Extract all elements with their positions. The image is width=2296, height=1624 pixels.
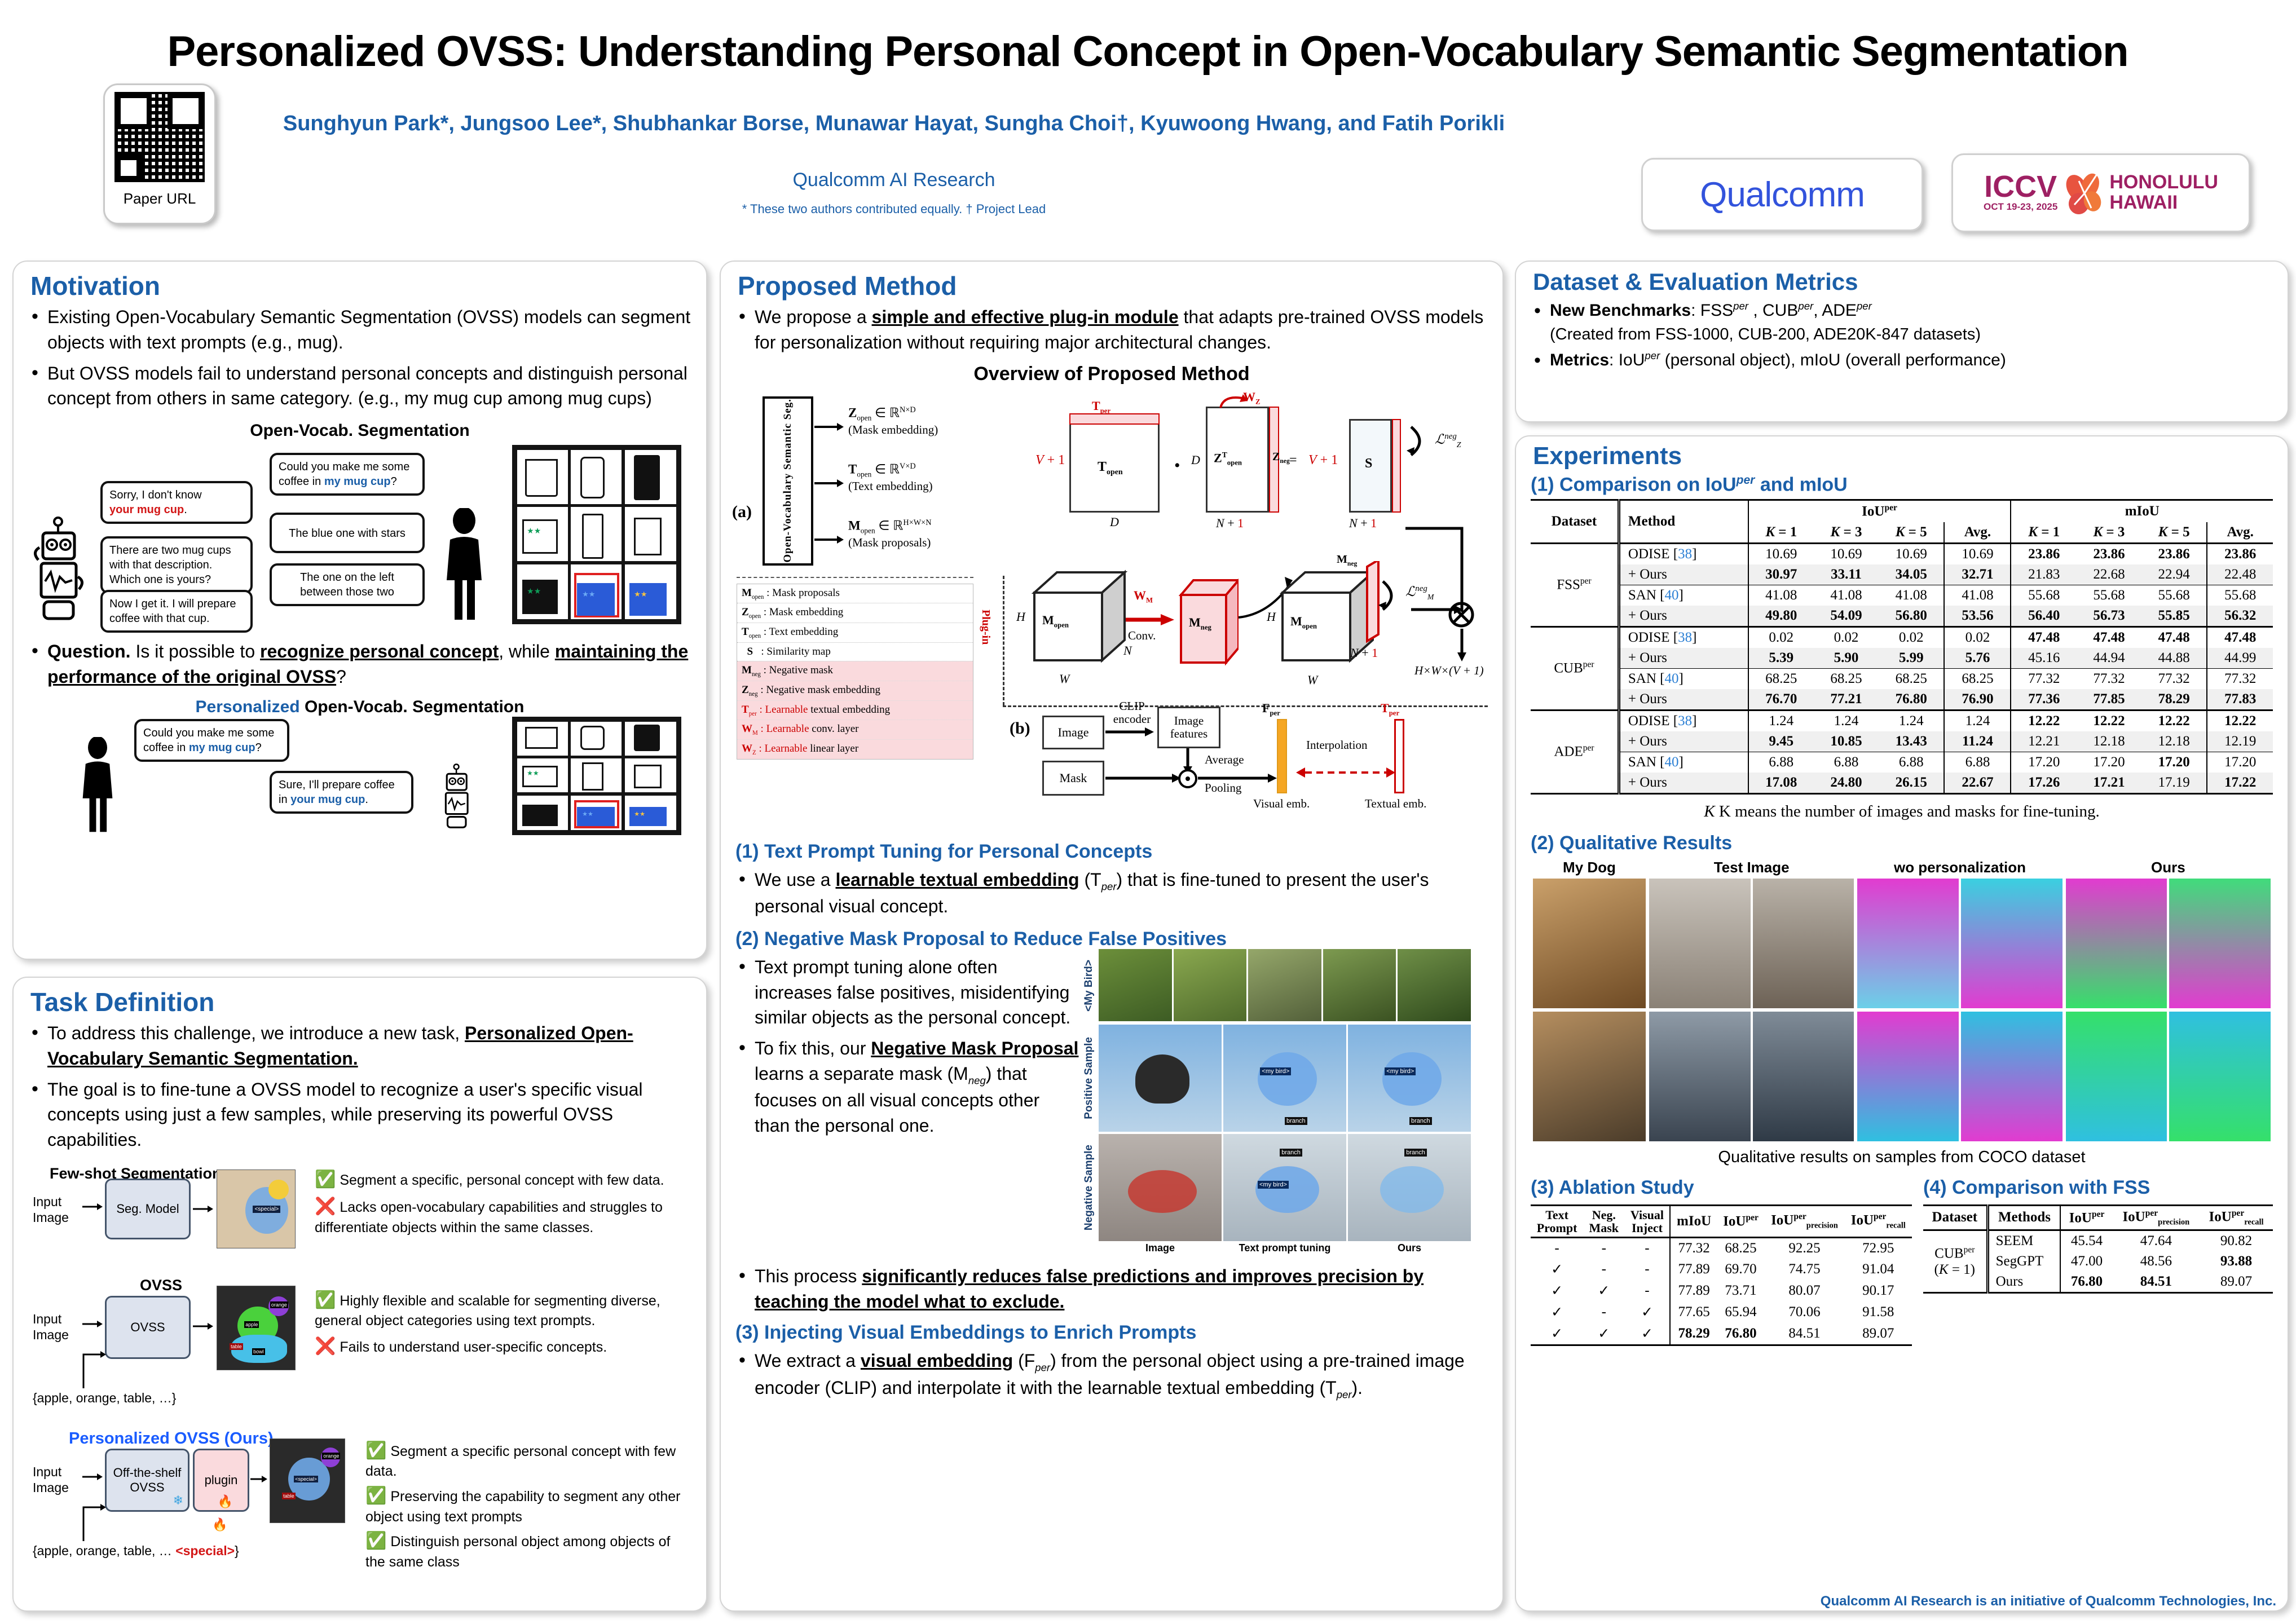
value-cell: 24.80	[1814, 773, 1879, 794]
speech-bubble-robot-2: There are two mug cups with that descrip…	[100, 536, 253, 594]
bubble-text: ?	[255, 742, 262, 754]
mask-tag: <my bird>	[1260, 1067, 1291, 1075]
dataset-cell: FSSper	[1531, 543, 1619, 626]
value-cell: 77.83	[2207, 689, 2273, 710]
value-cell: 77.32	[2141, 668, 2207, 689]
task-text: To address this challenge, we introduce …	[47, 1023, 465, 1043]
vocab-arrow-icon	[81, 1347, 107, 1391]
arrow-icon	[1105, 773, 1181, 783]
method-cell: ODISE [38]	[1619, 543, 1748, 564]
label-loss-z: ℒnegZ	[1435, 431, 1461, 450]
motivation-question: Question. Is it possible to recognize pe…	[28, 639, 691, 690]
open-vocab-diagram-caption: Open-Vocab. Segmentation	[14, 421, 706, 440]
dataset-metrics-panel: Dataset & Evaluation Metrics New Benchma…	[1515, 261, 2289, 422]
label-m-neg-2: Mneg	[1337, 553, 1357, 567]
question-label: Question.	[47, 641, 131, 661]
value-cell: 77.85	[2077, 689, 2141, 710]
flag-cell: -	[1583, 1237, 1624, 1259]
ours-result-image: orange <special> table	[270, 1438, 345, 1523]
dataset-label: Metrics	[1550, 351, 1609, 369]
method-sec2-bullet-3: This process significantly reduces false…	[735, 1264, 1486, 1314]
k-note-text: K means the number of images and masks f…	[1719, 802, 2100, 820]
bubble-highlight: my mug cup	[324, 475, 391, 488]
ablation-table: TextPrompt Neg.Mask VisualInject mIoU Io…	[1531, 1204, 1912, 1346]
label-w2: W	[1307, 673, 1317, 687]
flame-icon: 🔥	[218, 1494, 233, 1509]
table-row: + Ours76.7077.2176.8076.9077.3677.8578.2…	[1531, 689, 2273, 710]
negative-sample-row: <my bird> branch branch	[1099, 1134, 1471, 1241]
author-footnote: * These two authors contributed equally.…	[265, 202, 1523, 217]
table-row: SAN [40]41.0841.0841.0841.0855.6855.6855…	[1531, 585, 2273, 606]
my-bird-row	[1099, 949, 1471, 1021]
arrow-icon	[193, 1322, 213, 1331]
flag-cell: -	[1531, 1237, 1583, 1259]
value-cell: 23.86	[2011, 543, 2076, 564]
qualitative-column-headers: My Dog Test Image wo personalization Our…	[1533, 859, 2271, 876]
value-cell: 45.16	[2011, 648, 2076, 669]
ours-vocab-label: {apple, orange, table, … <special>}	[33, 1543, 239, 1559]
qual-col-header: Test Image	[1649, 859, 1854, 876]
personalized-diagram: Could you make me some coffee in my mug …	[21, 717, 687, 835]
value-cell: 10.69	[1944, 543, 2011, 564]
question-text: Is it possible to	[131, 641, 260, 661]
qualcomm-logo: Qualcomm	[1641, 158, 1923, 231]
sec-text: learns a separate mask (M	[755, 1063, 968, 1084]
value-cell: 55.68	[2011, 585, 2076, 606]
qr-code-icon	[114, 92, 205, 182]
value-cell: 70.06	[1764, 1301, 1844, 1323]
value-cell: 74.75	[1764, 1259, 1844, 1280]
value-cell: 33.11	[1814, 564, 1879, 585]
value-cell: 10.69	[1748, 543, 1814, 564]
experiments-panel: Experiments (1) Comparison on IoUper and…	[1515, 435, 2289, 1612]
bird-column-labels: Image Text prompt tuning Ours	[1099, 1242, 1471, 1254]
value-cell: 22.48	[2207, 564, 2273, 585]
point-text: Segment a specific, personal concept wit…	[340, 1172, 664, 1188]
label-t-per: Tper	[1092, 399, 1110, 415]
bird-col-label: Text prompt tuning	[1223, 1242, 1346, 1254]
label-s: S	[1365, 456, 1372, 471]
task-definition-title: Task Definition	[30, 987, 706, 1017]
value-cell: 56.73	[2077, 606, 2141, 627]
dataset-label: New Benchmarks	[1550, 301, 1691, 320]
mask-tag: branch	[1409, 1117, 1432, 1125]
flag-cell: ✓	[1531, 1259, 1583, 1280]
dataset-bullet-1: New Benchmarks: FSSper , CUBper, ADEper …	[1531, 299, 2274, 346]
value-cell: 69.70	[1717, 1259, 1765, 1280]
ovss-module-box: Open-Vocabulary Semantic Seg.	[763, 396, 813, 566]
vocab-special-token: <special>	[175, 1543, 235, 1558]
flag-cell: ✓	[1583, 1280, 1624, 1301]
check-icon: ✅	[365, 1486, 386, 1505]
sec-subscript: per	[1337, 1388, 1352, 1400]
flag-cell: ✓	[1624, 1323, 1670, 1345]
flag-cell: ✓	[1531, 1323, 1583, 1345]
check-icon: ✅	[315, 1170, 336, 1189]
value-cell: 17.20	[2011, 752, 2076, 773]
motivation-panel: Motivation Existing Open-Vocabulary Sema…	[12, 261, 707, 960]
method-sec2-bullet-2: To fix this, our Negative Mask Proposal …	[735, 1036, 1079, 1138]
value-cell: 17.26	[2011, 773, 2076, 794]
task-bullet-2: The goal is to fine-tune a OVSS model to…	[28, 1077, 691, 1153]
bubble-text: .	[184, 504, 187, 516]
box-label: plugin	[205, 1473, 238, 1488]
label-t-open: Topen	[1098, 460, 1123, 477]
value-cell: 76.90	[1944, 689, 2011, 710]
input-image-label: InputImage	[33, 1464, 69, 1495]
visual-emb-label: Visual emb.	[1253, 797, 1310, 811]
value-cell: 76.80	[1879, 689, 1944, 710]
sec-text: We use a	[755, 870, 835, 890]
point-text: Fails to understand user-specific concep…	[340, 1339, 607, 1355]
value-cell: 21.83	[2011, 564, 2076, 585]
value-cell: 12.18	[2141, 731, 2207, 752]
bubble-text: .	[365, 793, 368, 806]
table-row: ADEperODISE [38]1.241.241.241.2412.2212.…	[1531, 710, 2273, 731]
value-cell: 17.22	[2207, 773, 2273, 794]
value-cell: 5.90	[1814, 648, 1879, 669]
table-row: + Ours5.395.905.995.7645.1644.9444.8844.…	[1531, 648, 2273, 669]
value-cell: 91.04	[1845, 1259, 1912, 1280]
value-cell: 68.25	[1748, 668, 1814, 689]
value-cell: 68.25	[1879, 668, 1944, 689]
table-row: + Ours30.9733.1134.0532.7121.8322.6822.9…	[1531, 564, 2273, 585]
label-h2: H	[1267, 610, 1276, 624]
iccv-city: HONOLULU	[2109, 173, 2218, 193]
value-cell: 10.69	[1814, 543, 1879, 564]
overview-diagram: (a) Open-Vocabulary Semantic Seg. Zopen …	[731, 390, 1492, 739]
sec-emphasis: Negative Mask Proposal	[871, 1038, 1078, 1058]
speech-bubble-user-3: The one on the left between those two	[270, 563, 425, 606]
value-cell: 41.08	[1748, 585, 1814, 606]
dataset-cell: CUBper(K = 1)	[1923, 1230, 1987, 1292]
flag-cell: ✓	[1531, 1301, 1583, 1323]
value-cell: 56.40	[2011, 606, 2076, 627]
table-row: + Ours17.0824.8026.1522.6717.2617.2117.1…	[1531, 773, 2273, 794]
similarity-neg-col	[1392, 419, 1401, 513]
speech-bubble-personalized-robot: Sure, I'll prepare coffee in your mug cu…	[270, 771, 413, 814]
value-cell: 22.68	[2077, 564, 2141, 585]
paper-url-qr[interactable]: Paper URL	[103, 83, 216, 224]
method-cell: + Ours	[1619, 689, 1748, 710]
textual-emb-label: Textual emb.	[1365, 797, 1426, 811]
shelf-diagram: ★★ ★★ ★★ ★★	[512, 445, 681, 624]
value-cell: 77.89	[1670, 1259, 1717, 1280]
value-cell: 12.22	[2077, 710, 2141, 731]
flag-cell: -	[1624, 1280, 1670, 1301]
value-cell: 47.48	[2077, 626, 2141, 648]
qualitative-results: My Dog Test Image wo personalization Our…	[1533, 859, 2271, 1167]
table-row: ✓--77.8969.7074.7591.04	[1531, 1259, 1912, 1280]
dataset-sublabel: (Created from FSS-1000, CUB-200, ADE20K-…	[1550, 325, 1981, 343]
multiply-icon	[1446, 599, 1477, 630]
bubble-highlight: your mug cup	[109, 504, 184, 516]
value-cell: 56.80	[1879, 606, 1944, 627]
method-intro-bullet: We propose a simple and effective plug-i…	[735, 304, 1486, 355]
sec-text: We extract a	[755, 1351, 861, 1371]
mask-box: Mask	[1042, 761, 1104, 796]
open-vocab-diagram: Sorry, I don't know your mug cup. There …	[21, 440, 687, 626]
sec-emphasis: learnable textual embedding	[835, 870, 1079, 890]
label-h: H	[1016, 610, 1025, 624]
value-cell: 77.21	[1814, 689, 1879, 710]
sec-text: (T	[1079, 870, 1101, 890]
iccv-logo-text: ICCV	[1984, 173, 2057, 201]
method-sec3-title: (3) Injecting Visual Embeddings to Enric…	[735, 1322, 1502, 1344]
value-cell: 93.88	[2200, 1251, 2273, 1272]
ovss-vocab-label: {apple, orange, table, …}	[33, 1391, 176, 1406]
label-hwv: H×W×(V + 1)	[1414, 664, 1484, 678]
dataset-cell: CUBper	[1531, 626, 1619, 710]
cross-icon: ❌	[315, 1197, 336, 1216]
value-cell: 76.80	[2060, 1272, 2112, 1293]
method-cell: SEEM	[1987, 1230, 2060, 1251]
experiments-sec1-title: (1) Comparison on IoUper and mIoU	[1531, 474, 2288, 496]
value-cell: 9.45	[1748, 731, 1814, 752]
ours-points: ✅ Segment a specific personal concept wi…	[365, 1440, 681, 1572]
label-conv: Conv.	[1128, 629, 1156, 643]
value-cell: 47.64	[2113, 1230, 2200, 1251]
iccv-state: HAWAII	[2109, 193, 2218, 213]
method-cell: ODISE [38]	[1619, 710, 1748, 731]
flag-cell: -	[1624, 1237, 1670, 1259]
speech-bubble-user-1: Could you make me some coffee in my mug …	[270, 453, 425, 496]
method-cell: SegGPT	[1987, 1251, 2060, 1272]
my-bird-row-label: <My Bird>	[1082, 949, 1096, 1022]
value-cell: 56.32	[2207, 606, 2273, 627]
qualcomm-logo-text: Qualcomm	[1700, 175, 1865, 215]
experiments-sec2-title: (2) Qualitative Results	[1531, 832, 2288, 854]
robot-icon	[26, 514, 94, 626]
value-cell: 17.20	[2207, 752, 2273, 773]
personalized-diagram-caption: Personalized Open-Vocab. Segmentation	[14, 698, 706, 717]
flag-cell: ✓	[1583, 1323, 1624, 1345]
qr-label: Paper URL	[124, 190, 196, 208]
value-cell: 12.22	[2011, 710, 2076, 731]
person-icon	[439, 508, 490, 621]
ovss-points: ✅ Highly flexible and scalable for segme…	[315, 1289, 681, 1358]
value-cell: 6.88	[1748, 752, 1814, 773]
value-cell: 47.48	[2207, 626, 2273, 648]
label-d2: D	[1191, 453, 1200, 467]
flame-icon: 🔥	[212, 1517, 227, 1532]
value-cell: 5.76	[1944, 648, 2011, 669]
t-per-bar-b	[1394, 719, 1404, 793]
fewshot-result-image: <special>	[217, 1170, 296, 1248]
value-cell: 76.80	[1717, 1323, 1765, 1345]
positive-sample-row-label: Positive Sample	[1082, 1025, 1096, 1132]
method-sec3-bullet: We extract a visual embedding (Fper) fro…	[735, 1348, 1486, 1402]
bird-col-label: Ours	[1348, 1242, 1471, 1254]
vocab-arrow-icon	[81, 1499, 107, 1543]
label-f-per: Fper	[1262, 701, 1280, 717]
value-cell: 72.95	[1845, 1237, 1912, 1259]
flag-cell: -	[1583, 1259, 1624, 1280]
loss-arrow-icon	[1405, 423, 1436, 457]
qual-col-header: Ours	[2066, 859, 2271, 876]
value-cell: 77.32	[1670, 1237, 1717, 1259]
bubble-text: Sorry, I don't know	[109, 489, 202, 501]
plugin-bracket-label: Plug-in	[979, 610, 992, 645]
point-text: Lacks open-vocabulary capabilities and s…	[315, 1199, 663, 1235]
value-cell: 92.25	[1764, 1237, 1844, 1259]
motivation-title: Motivation	[30, 271, 706, 301]
output-m-open: Mopen ∈ ℝH×W×N(Mask proposals)	[848, 518, 932, 550]
value-cell: 47.48	[2141, 626, 2207, 648]
question-emphasis: recognize personal concept	[260, 641, 499, 661]
qual-col-header: My Dog	[1533, 859, 1646, 876]
value-cell: 10.85	[1814, 731, 1879, 752]
table-row: + Ours9.4510.8513.4311.2412.2112.1812.18…	[1531, 731, 2273, 752]
shelf-diagram: ★★ ★★ ★★	[512, 717, 681, 835]
value-cell: 91.58	[1845, 1301, 1912, 1323]
person-icon	[72, 737, 123, 833]
panel-a-label: (a)	[732, 502, 752, 522]
value-cell: 22.67	[1944, 773, 2011, 794]
value-cell: 41.08	[1944, 585, 2011, 606]
elementwise-product-icon	[1176, 767, 1199, 790]
label-z-open-t: ZTopen	[1214, 451, 1242, 467]
value-cell: 77.32	[2207, 668, 2273, 689]
value-cell: 17.08	[1748, 773, 1814, 794]
value-cell: 77.32	[2077, 668, 2141, 689]
method-cell: SAN [40]	[1619, 752, 1748, 773]
value-cell: 5.99	[1879, 648, 1944, 669]
poster-header: Personalized OVSS: Understanding Persona…	[0, 0, 2296, 237]
value-cell: 6.88	[1944, 752, 2011, 773]
mask-tag: <my bird>	[1258, 1181, 1289, 1189]
input-image-label: InputImage	[33, 1194, 69, 1225]
f-per-bar	[1277, 719, 1287, 793]
value-cell: 89.07	[2200, 1272, 2273, 1293]
check-icon: ✅	[365, 1441, 386, 1460]
bubble-highlight: my mug cup	[189, 742, 255, 754]
page-title: Personalized OVSS: Understanding Persona…	[68, 27, 2228, 76]
label-m-open-2: Mopen	[1290, 614, 1317, 630]
avg-pooling-label-top: Average	[1205, 753, 1244, 767]
snowflake-icon: ❄	[173, 1493, 183, 1508]
dot-product-icon: •	[1174, 456, 1180, 475]
value-cell: 73.71	[1717, 1280, 1765, 1301]
method-cell: ODISE [38]	[1619, 626, 1748, 648]
method-sec2-title: (2) Negative Mask Proposal to Reduce Fal…	[735, 928, 1502, 950]
main-results-table: Dataset Method IoUper mIoU K = 1K = 3K =…	[1531, 499, 2273, 794]
value-cell: 53.56	[1944, 606, 2011, 627]
value-cell: 10.69	[1879, 543, 1944, 564]
value-cell: 44.94	[2077, 648, 2141, 669]
speech-bubble-personalized-user: Could you make me some coffee in my mug …	[134, 719, 289, 762]
table-row: CUBper(K = 1)SEEM45.5447.6490.82	[1923, 1230, 2273, 1251]
vocab-text: {apple, orange, table, …	[33, 1543, 175, 1558]
method-sec1-title: (1) Text Prompt Tuning for Personal Conc…	[735, 841, 1502, 863]
seg-model-box: Seg. Model	[105, 1179, 191, 1239]
label-w-m: WM	[1134, 588, 1153, 604]
iccv-logo: ICCV OCT 19-23, 2025 HONOLULU HAWAII	[1951, 153, 2250, 232]
flag-cell: -	[1624, 1259, 1670, 1280]
arrow-icon	[814, 479, 844, 488]
qual-col-header: wo personalization	[1857, 859, 2062, 876]
value-cell: 12.21	[2011, 731, 2076, 752]
value-cell: 78.29	[1670, 1323, 1717, 1345]
value-cell: 48.56	[2113, 1251, 2200, 1272]
overview-caption: Overview of Proposed Method	[721, 363, 1502, 385]
robot-icon	[426, 762, 488, 832]
label-t-per-b: Tper	[1381, 701, 1399, 717]
value-cell: 47.00	[2060, 1251, 2112, 1272]
sec-subscript: per	[1101, 880, 1117, 892]
value-cell: 0.02	[1748, 626, 1814, 648]
caption-prefix: Personalized	[196, 698, 300, 716]
box-label: Off-the-shelf OVSS	[107, 1466, 188, 1495]
method-cell: SAN [40]	[1619, 585, 1748, 606]
value-cell: 23.86	[2077, 543, 2141, 564]
value-cell: 55.68	[2077, 585, 2141, 606]
value-cell: 49.80	[1748, 606, 1814, 627]
bird-col-label: Image	[1099, 1242, 1222, 1254]
table-row: ✓✓-77.8973.7180.0790.17	[1531, 1280, 1912, 1301]
value-cell: 13.43	[1879, 731, 1944, 752]
conv-arrow-icon	[1126, 613, 1174, 626]
task-definition-panel: Task Definition To address this challeng…	[12, 977, 707, 1612]
question-text: , while	[499, 641, 555, 661]
plugin-b-diagram: Image CLIPencoder Imagefeatures Mask Ave…	[731, 714, 1492, 799]
sec-subscript: per	[1035, 1362, 1050, 1374]
negative-sample-row-label: Negative Sample	[1082, 1134, 1096, 1241]
method-cell: + Ours	[1619, 731, 1748, 752]
mask-tag: <my bird>	[1385, 1067, 1416, 1075]
motivation-bullet: But OVSS models fail to understand perso…	[28, 361, 691, 412]
affiliation: Qualcomm AI Research	[265, 169, 1523, 191]
value-cell: 6.88	[1814, 752, 1879, 773]
value-cell: 84.51	[2113, 1272, 2200, 1293]
sec-text: To fix this, our	[755, 1038, 871, 1058]
value-cell: 90.17	[1845, 1280, 1912, 1301]
value-cell: 54.09	[1814, 606, 1879, 627]
value-cell: 1.24	[1814, 710, 1879, 731]
fewshot-points: ✅ Segment a specific, personal concept w…	[315, 1168, 681, 1238]
input-image-label: InputImage	[33, 1312, 69, 1343]
label-v-plus-1b: V + 1	[1308, 453, 1338, 468]
label-w: W	[1059, 672, 1069, 686]
method-cell: + Ours	[1619, 773, 1748, 794]
plugin-box: plugin 🔥	[193, 1449, 249, 1512]
module-label: Open-Vocabulary Semantic Seg.	[782, 399, 794, 563]
image-features-box: Imagefeatures	[1157, 707, 1220, 748]
value-cell: 23.86	[2141, 543, 2207, 564]
speech-bubble-robot-1: Sorry, I don't know your mug cup.	[100, 481, 253, 524]
value-cell: 12.18	[2077, 731, 2141, 752]
arrow-icon	[1105, 727, 1154, 737]
speech-bubble-user-2: The blue one with stars	[270, 513, 425, 553]
experiments-sec3-title: (3) Ablation Study	[1531, 1177, 1912, 1199]
vocab-text: }	[235, 1543, 239, 1558]
label-v-plus-1: V + 1	[1035, 453, 1065, 468]
value-cell: 89.07	[1845, 1323, 1912, 1345]
table-row: + Ours49.8054.0956.8053.5656.4056.7355.8…	[1531, 606, 2273, 627]
flag-cell: -	[1583, 1301, 1624, 1323]
value-cell: 76.70	[1748, 689, 1814, 710]
value-cell: 77.89	[1670, 1280, 1717, 1301]
value-cell: 68.25	[1944, 668, 2011, 689]
image-box: Image	[1042, 716, 1104, 749]
value-cell: 17.20	[2141, 752, 2207, 773]
qualitative-row-2	[1533, 1012, 2271, 1141]
point-text: Highly flexible and scalable for segment…	[315, 1293, 660, 1329]
value-cell: 6.88	[1879, 752, 1944, 773]
label-n-plus-1: N + 1	[1216, 516, 1244, 531]
ovss-diagram: OVSS InputImage OVSS orange apple table …	[33, 1277, 687, 1420]
method-cell: Ours	[1987, 1272, 2060, 1293]
